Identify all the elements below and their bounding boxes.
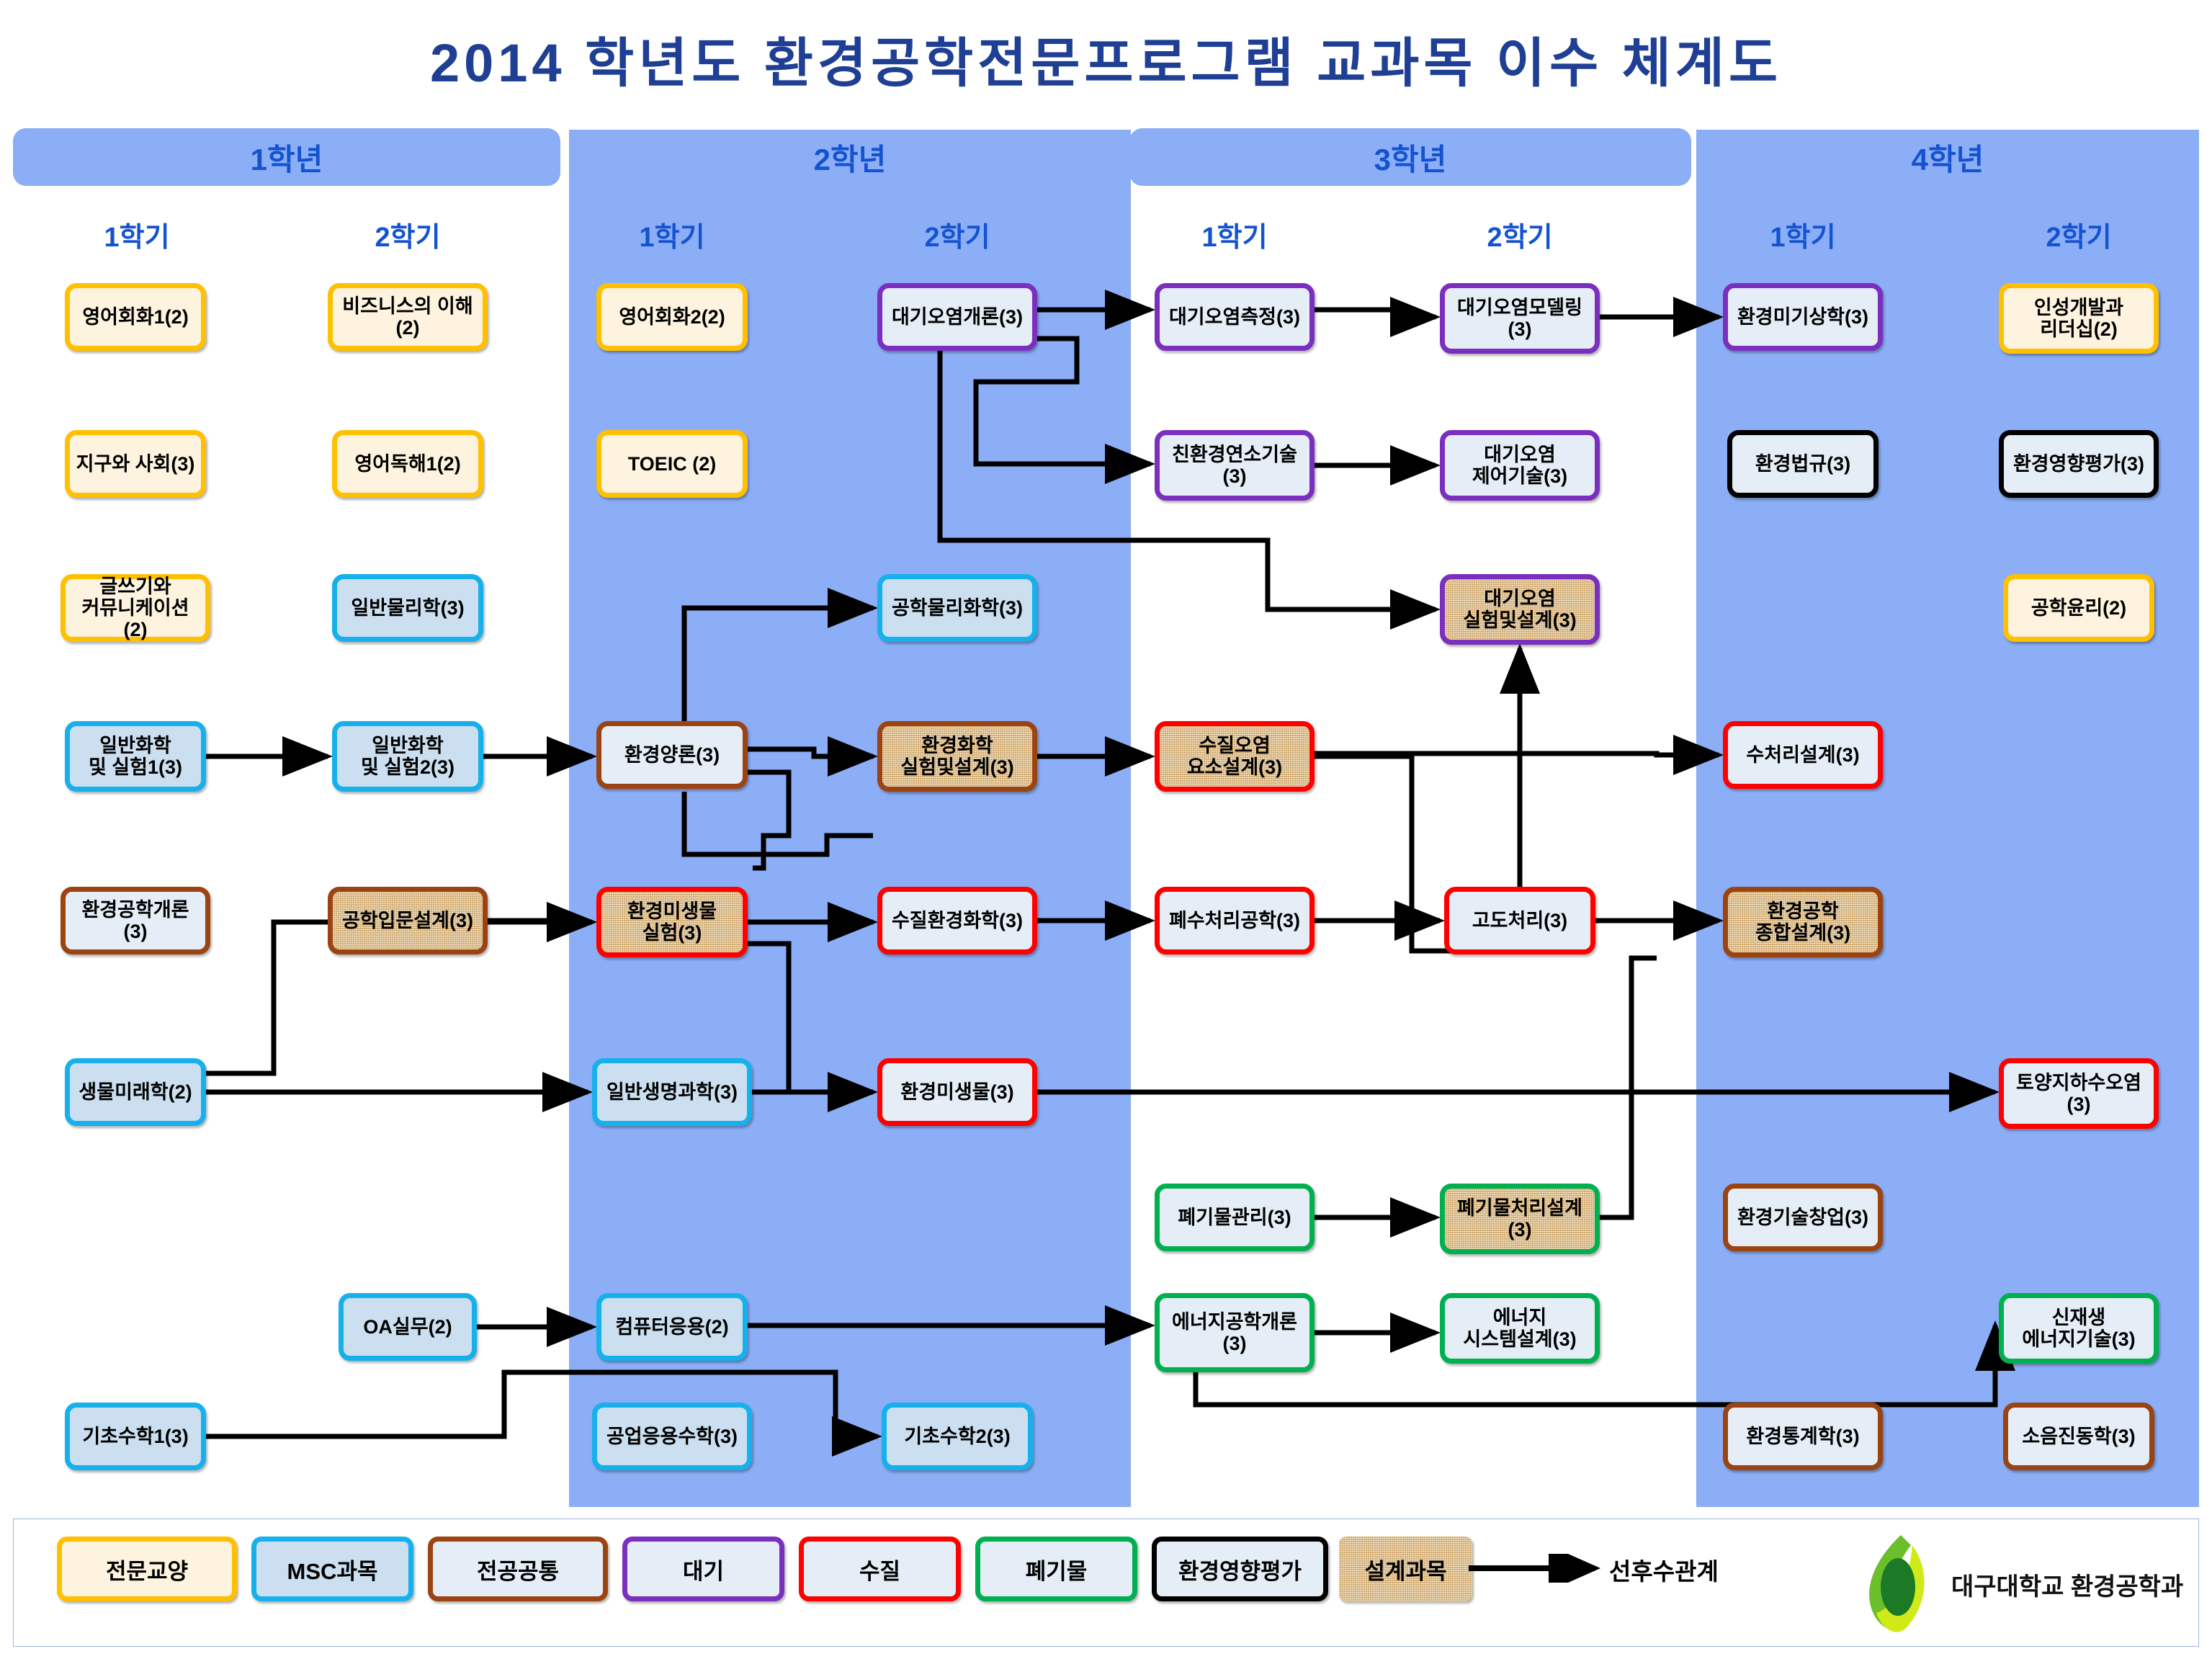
course-node[interactable]: 대기오염모델링 (3)	[1440, 283, 1600, 354]
course-node[interactable]: 친환경연소기술 (3)	[1155, 430, 1315, 501]
semester-head-3-2: 2학기	[1448, 215, 1592, 254]
course-node[interactable]: OA실무(2)	[339, 1293, 477, 1361]
course-node[interactable]: 대기오염측정(3)	[1155, 283, 1315, 351]
course-node[interactable]: 환경미기상학(3)	[1723, 283, 1883, 351]
course-node[interactable]: 폐수처리공학(3)	[1155, 887, 1315, 954]
course-node[interactable]: 공업응용수학(3)	[592, 1403, 752, 1470]
course-node[interactable]: 기초수학1(3)	[65, 1403, 206, 1470]
course-node[interactable]: 지구와 사회(3)	[65, 430, 206, 498]
semester-head-1-2: 2학기	[336, 215, 480, 254]
course-node[interactable]: 소음진동학(3)	[2003, 1403, 2154, 1470]
course-node[interactable]: 인성개발과 리더십(2)	[1999, 283, 2159, 354]
course-node[interactable]: 환경미생물 실험(3)	[596, 887, 748, 957]
legend-item: 환경영향평가	[1152, 1537, 1328, 1601]
page-title: 2014 학년도 환경공학전문프로그램 교과목 이수 체계도	[0, 20, 2212, 97]
course-node[interactable]: 환경공학개론(3)	[61, 887, 210, 954]
university-name: 대구대학교 환경공학과	[1951, 1567, 2183, 1602]
semester-head-2-1: 1학기	[600, 215, 744, 254]
course-node[interactable]: 환경화학 실험및설계(3)	[877, 721, 1037, 792]
year-label-1: 1학년	[251, 135, 323, 179]
course-node[interactable]: 일반화학 및 실험1(3)	[65, 721, 206, 792]
legend-item: 설계과목	[1339, 1537, 1472, 1601]
course-node[interactable]: 환경영향평가(3)	[1999, 430, 2159, 498]
legend: 전문교양MSC과목전공공통대기수질폐기물환경영향평가설계과목 선후수관계 대구대…	[13, 1519, 2199, 1647]
course-node[interactable]: 환경기술창업(3)	[1723, 1184, 1883, 1251]
course-node[interactable]: 공학입문설계(3)	[328, 887, 488, 954]
course-node[interactable]: 일반생명과학(3)	[592, 1058, 752, 1126]
course-node[interactable]: 공학물리화학(3)	[877, 574, 1037, 642]
course-node[interactable]: 대기오염 실험및설계(3)	[1440, 574, 1600, 645]
semester-head-4-2: 2학기	[2007, 215, 2151, 254]
course-node[interactable]: 일반물리학(3)	[332, 574, 483, 642]
semester-head-3-1: 1학기	[1163, 215, 1307, 254]
course-node[interactable]: TOEIC (2)	[596, 430, 748, 498]
course-node[interactable]: 컴퓨터응용(2)	[596, 1293, 748, 1361]
course-node[interactable]: 토양지하수오염 (3)	[1999, 1058, 2159, 1129]
year-label-4: 4학년	[1912, 135, 1984, 179]
course-node[interactable]: 영어회화2(2)	[596, 283, 748, 351]
course-node[interactable]: 영어독해1(2)	[332, 430, 483, 498]
semester-head-4-1: 1학기	[1731, 215, 1875, 254]
course-node[interactable]: 공학윤리(2)	[2003, 574, 2154, 642]
legend-item: 대기	[622, 1537, 784, 1601]
year-label-3: 3학년	[1374, 135, 1447, 179]
course-node[interactable]: 수질오염 요소설계(3)	[1155, 721, 1315, 792]
legend-item: 폐기물	[975, 1537, 1137, 1601]
year-banner-2: 2학년	[569, 128, 1131, 186]
course-node[interactable]: 글쓰기와 커뮤니케이션(2)	[61, 574, 210, 642]
year-banner-3: 3학년	[1129, 128, 1691, 186]
legend-item: 전공공통	[428, 1537, 608, 1601]
legend-item: MSC과목	[251, 1537, 413, 1601]
course-node[interactable]: 고도처리(3)	[1444, 887, 1595, 954]
course-node[interactable]: 수처리설계(3)	[1723, 721, 1883, 789]
year-banner-1: 1학년	[13, 128, 560, 186]
course-node[interactable]: 영어회화1(2)	[65, 283, 206, 351]
course-node[interactable]: 대기오염 제어기술(3)	[1440, 430, 1600, 501]
course-node[interactable]: 수질환경화학(3)	[877, 887, 1037, 954]
course-node[interactable]: 폐기물관리(3)	[1155, 1184, 1315, 1251]
university-logo-icon	[1850, 1532, 1937, 1633]
course-node[interactable]: 환경공학 종합설계(3)	[1723, 887, 1883, 957]
course-node[interactable]: 비즈니스의 이해 (2)	[328, 283, 488, 351]
legend-item: 수질	[799, 1537, 961, 1601]
course-node[interactable]: 신재생 에너지기술(3)	[1999, 1293, 2159, 1364]
course-node[interactable]: 폐기물처리설계 (3)	[1440, 1184, 1600, 1254]
legend-arrow-label: 선후수관계	[1609, 1552, 1719, 1587]
course-node[interactable]: 환경양론(3)	[596, 721, 748, 789]
course-node[interactable]: 에너지 시스템설계(3)	[1440, 1293, 1600, 1364]
semester-head-1-1: 1학기	[65, 215, 209, 254]
course-node[interactable]: 에너지공학개론 (3)	[1155, 1293, 1315, 1372]
course-node[interactable]: 환경통계학(3)	[1723, 1403, 1883, 1470]
semester-head-2-2: 2학기	[885, 215, 1029, 254]
course-node[interactable]: 환경미생물(3)	[877, 1058, 1037, 1126]
course-node[interactable]: 일반화학 및 실험2(3)	[332, 721, 483, 792]
year-banner-4: 4학년	[1696, 128, 2199, 186]
course-node[interactable]: 대기오염개론(3)	[877, 283, 1037, 351]
legend-item: 전문교양	[57, 1537, 237, 1601]
legend-arrow-icon	[1469, 1554, 1606, 1583]
course-node[interactable]: 생물미래학(2)	[65, 1058, 206, 1126]
course-node[interactable]: 기초수학2(3)	[882, 1403, 1033, 1470]
year-label-2: 2학년	[814, 135, 887, 179]
course-node[interactable]: 환경법규(3)	[1727, 430, 1879, 498]
